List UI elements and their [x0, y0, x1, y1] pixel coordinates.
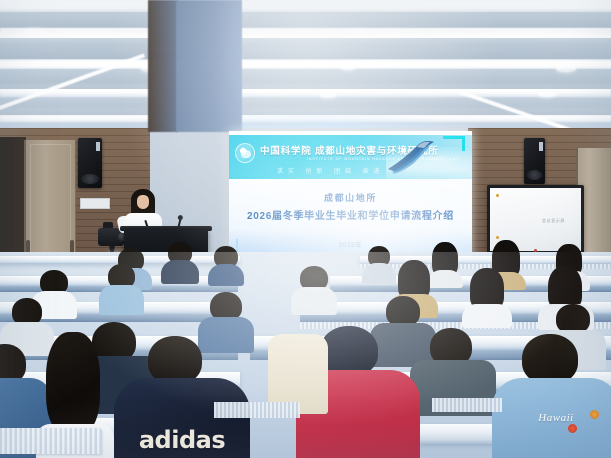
speaker-badge — [539, 142, 543, 151]
led-strip-light-icon — [0, 90, 611, 97]
person-torso — [99, 285, 144, 315]
wall-speaker-icon — [78, 138, 102, 188]
person-head — [320, 326, 378, 376]
presentation-slide: 中国科学院 成都山地灾害与环境研究所 INSTITUTE OF MOUNTAIN… — [229, 131, 472, 259]
ceiling-slab — [0, 12, 611, 28]
corner-bracket-icon — [443, 136, 465, 151]
person-torso — [161, 260, 199, 284]
desk-rail — [432, 398, 502, 412]
wall-display-label: 会议显示屏 — [542, 218, 565, 224]
ceiling-vent-icon — [352, 30, 370, 36]
person-torso — [208, 264, 244, 286]
led-strip-light-icon — [0, 28, 611, 37]
eagle-graphic-icon — [384, 139, 436, 175]
wall-column — [176, 0, 242, 132]
ceiling-vent-icon — [320, 93, 336, 98]
speaker-badge — [96, 142, 100, 151]
presenter-face — [137, 195, 149, 209]
ceiling-vent-icon — [556, 66, 576, 72]
flower-graphic-icon — [568, 424, 577, 433]
person-head — [522, 334, 578, 384]
chair-back — [0, 428, 102, 454]
slide-title-line2: 2026届冬季毕业生毕业和学位申请流程介绍 — [229, 207, 472, 222]
seating-area: adidas Hawaii — [0, 252, 611, 458]
yellow-dot-icon — [496, 236, 499, 239]
person-torso — [291, 287, 337, 315]
wall-column — [148, 0, 178, 132]
person-torso — [362, 263, 396, 285]
led-strip-light-icon — [0, 0, 611, 10]
wall-panel-icon — [80, 198, 110, 209]
ceiling-vent-icon — [340, 64, 356, 70]
projection-screen: 中国科学院 成都山地灾害与环境研究所 INSTITUTE OF MOUNTAIN… — [229, 131, 472, 259]
person-torso: Hawaii — [492, 378, 611, 458]
wall-speaker-icon — [524, 138, 545, 184]
lecture-hall-photo: 会议显示屏 中国科学院 成都山地灾害与环境研究所 INSTITUTE OF MO… — [0, 0, 611, 458]
led-strip-light-icon — [0, 60, 611, 68]
person-torso — [462, 304, 512, 328]
person-torso: adidas — [114, 378, 250, 458]
ceiling-vent-icon — [538, 92, 556, 97]
person-torso — [198, 317, 254, 353]
shirt-brand-text: adidas — [114, 426, 250, 454]
slide-banner: 中国科学院 成都山地灾害与环境研究所 INSTITUTE OF MOUNTAIN… — [229, 135, 472, 179]
yellow-dot-icon — [496, 194, 499, 197]
desk-rail — [214, 402, 300, 418]
ceiling-vent-icon — [23, 29, 45, 35]
person-head — [148, 336, 202, 384]
institute-emblem-icon — [235, 143, 255, 163]
person-torso — [427, 270, 463, 288]
flower-graphic-icon — [590, 410, 599, 419]
banner-motto: 求实 创新 团结 奋进 — [277, 166, 385, 175]
slide-title-line1: 成都山地所 — [229, 191, 472, 204]
ceiling-slab — [0, 38, 611, 59]
person-hair — [46, 332, 100, 436]
